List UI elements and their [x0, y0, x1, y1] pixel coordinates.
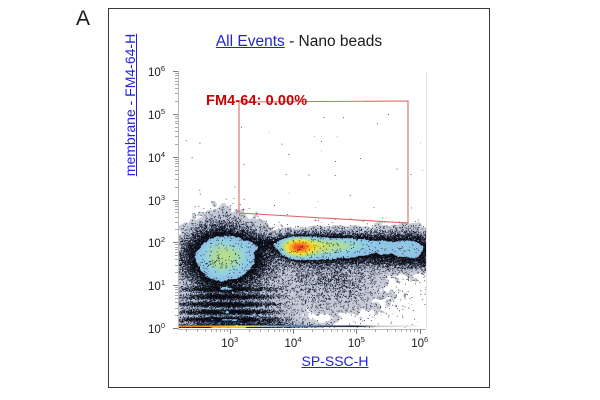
panel-letter: A	[76, 8, 90, 29]
y-axis-tick	[173, 114, 178, 115]
plot-title-separator: -	[285, 33, 299, 50]
y-axis-tick-label: 105	[148, 108, 165, 122]
x-axis-minor-tick	[279, 329, 280, 332]
y-axis-minor-tick	[175, 187, 178, 188]
y-axis-minor-tick	[175, 249, 178, 250]
y-axis-minor-tick	[175, 123, 178, 124]
y-axis-minor-tick	[175, 315, 178, 316]
y-axis-minor-tick	[175, 121, 178, 122]
y-axis-minor-tick	[175, 272, 178, 273]
y-axis-minor-tick	[175, 212, 178, 213]
y-axis-minor-tick	[175, 179, 178, 180]
y-axis-minor-tick	[175, 298, 178, 299]
y-axis-minor-tick	[175, 206, 178, 207]
x-axis-minor-tick	[290, 329, 291, 332]
x-axis-minor-tick	[312, 329, 313, 332]
plot-area[interactable]	[179, 71, 426, 328]
y-axis-minor-tick	[175, 116, 178, 117]
y-axis-minor-tick	[175, 204, 178, 205]
x-axis-minor-tick	[331, 329, 332, 332]
y-axis-minor-tick	[175, 88, 178, 89]
y-axis-minor-tick	[175, 217, 178, 218]
gate-statistic-label: FM4-64: 0.00%	[206, 93, 307, 109]
y-axis-tick	[173, 71, 178, 72]
x-axis-minor-tick	[205, 329, 206, 332]
y-axis-minor-tick	[175, 163, 178, 164]
y-axis-tick-label: 101	[148, 279, 165, 293]
y-axis-minor-tick	[175, 84, 178, 85]
y-axis-tick	[173, 242, 178, 243]
y-axis-minor-tick	[175, 93, 178, 94]
y-axis-minor-tick	[175, 308, 178, 309]
x-axis-tick	[356, 329, 357, 334]
y-axis-minor-tick	[175, 222, 178, 223]
y-axis-minor-tick	[175, 170, 178, 171]
x-axis-minor-tick	[350, 329, 351, 332]
x-axis-title[interactable]: SP-SSC-H	[109, 353, 491, 369]
x-axis-minor-tick	[186, 329, 187, 332]
x-axis-minor-tick	[274, 329, 275, 332]
x-axis-minor-tick	[337, 329, 338, 332]
figure-frame: All Events - Nano beads 1061051041031021…	[108, 8, 490, 388]
y-axis-minor-tick	[175, 252, 178, 253]
y-axis-minor-tick	[175, 78, 178, 79]
y-axis-minor-tick	[175, 259, 178, 260]
y-axis-tick	[173, 157, 178, 158]
x-axis-tick-label: 105	[348, 336, 365, 350]
x-axis-tick-label: 104	[285, 336, 302, 350]
y-axis-minor-tick	[175, 161, 178, 162]
y-axis-minor-tick	[175, 101, 178, 102]
y-axis-minor-tick	[175, 136, 178, 137]
y-axis-minor-tick	[175, 287, 178, 288]
x-axis-minor-tick	[375, 329, 376, 332]
x-axis-minor-tick	[283, 329, 284, 332]
x-axis-minor-tick	[342, 329, 343, 332]
x-axis-minor-tick	[387, 329, 388, 332]
y-axis-tick	[173, 285, 178, 286]
y-axis-minor-tick	[175, 118, 178, 119]
y-axis-minor-tick	[175, 247, 178, 248]
y-axis-title[interactable]: membrane - FM4-64-H	[122, 0, 138, 210]
y-axis-minor-tick	[175, 131, 178, 132]
y-axis-minor-tick	[175, 302, 178, 303]
x-axis-minor-tick	[395, 329, 396, 332]
x-axis-minor-tick	[220, 329, 221, 332]
y-axis-tick-label: 103	[148, 194, 165, 208]
y-axis-minor-tick	[175, 265, 178, 266]
x-axis-tick-label: 106	[411, 336, 428, 350]
y-axis-minor-tick	[175, 166, 178, 167]
y-axis-tick-label: 104	[148, 151, 165, 165]
x-axis-minor-tick	[323, 329, 324, 332]
y-axis-minor-tick	[175, 75, 178, 76]
y-axis-minor-tick	[175, 209, 178, 210]
x-axis-minor-tick	[260, 329, 261, 332]
x-axis-tick	[293, 329, 294, 334]
x-axis-minor-tick	[347, 329, 348, 332]
x-axis-minor-tick	[224, 329, 225, 332]
y-axis-minor-tick	[175, 81, 178, 82]
y-axis-tick-label: 106	[148, 65, 165, 79]
y-axis-minor-tick	[175, 144, 178, 145]
x-axis-minor-tick	[410, 329, 411, 332]
x-axis-minor-tick	[227, 329, 228, 332]
x-axis-minor-tick	[401, 329, 402, 332]
x-axis-minor-tick	[211, 329, 212, 332]
y-axis-minor-tick	[175, 295, 178, 296]
plot-title-gate-link[interactable]: All Events	[216, 33, 285, 50]
y-axis-minor-tick	[175, 255, 178, 256]
y-axis-minor-tick	[175, 73, 178, 74]
y-axis-tick-label: 102	[148, 236, 165, 250]
density-scatter-canvas	[179, 71, 426, 328]
y-axis-minor-tick	[175, 292, 178, 293]
x-axis-minor-tick	[216, 329, 217, 332]
x-axis-minor-tick	[197, 329, 198, 332]
y-axis-minor-tick	[175, 127, 178, 128]
y-axis-minor-tick	[175, 174, 178, 175]
y-axis-minor-tick	[175, 289, 178, 290]
y-axis-tick	[173, 328, 178, 329]
y-axis-tick	[173, 200, 178, 201]
x-axis-minor-tick	[414, 329, 415, 332]
plot-title: All Events - Nano beads	[109, 33, 489, 51]
x-axis-minor-tick	[417, 329, 418, 332]
x-axis-tick-label: 103	[221, 336, 238, 350]
y-axis-minor-tick	[175, 244, 178, 245]
x-axis-minor-tick	[249, 329, 250, 332]
x-axis-minor-tick	[268, 329, 269, 332]
y-axis-minor-tick	[175, 159, 178, 160]
x-axis-tick	[230, 329, 231, 334]
x-axis-tick	[420, 329, 421, 334]
plot-title-sample-name: Nano beads	[299, 33, 383, 50]
x-axis-minor-tick	[406, 329, 407, 332]
y-axis-tick-label: 100	[148, 322, 165, 336]
y-axis-minor-tick	[175, 229, 178, 230]
x-axis-minor-tick	[287, 329, 288, 332]
x-axis-minor-tick	[354, 329, 355, 332]
y-axis-minor-tick	[175, 202, 178, 203]
